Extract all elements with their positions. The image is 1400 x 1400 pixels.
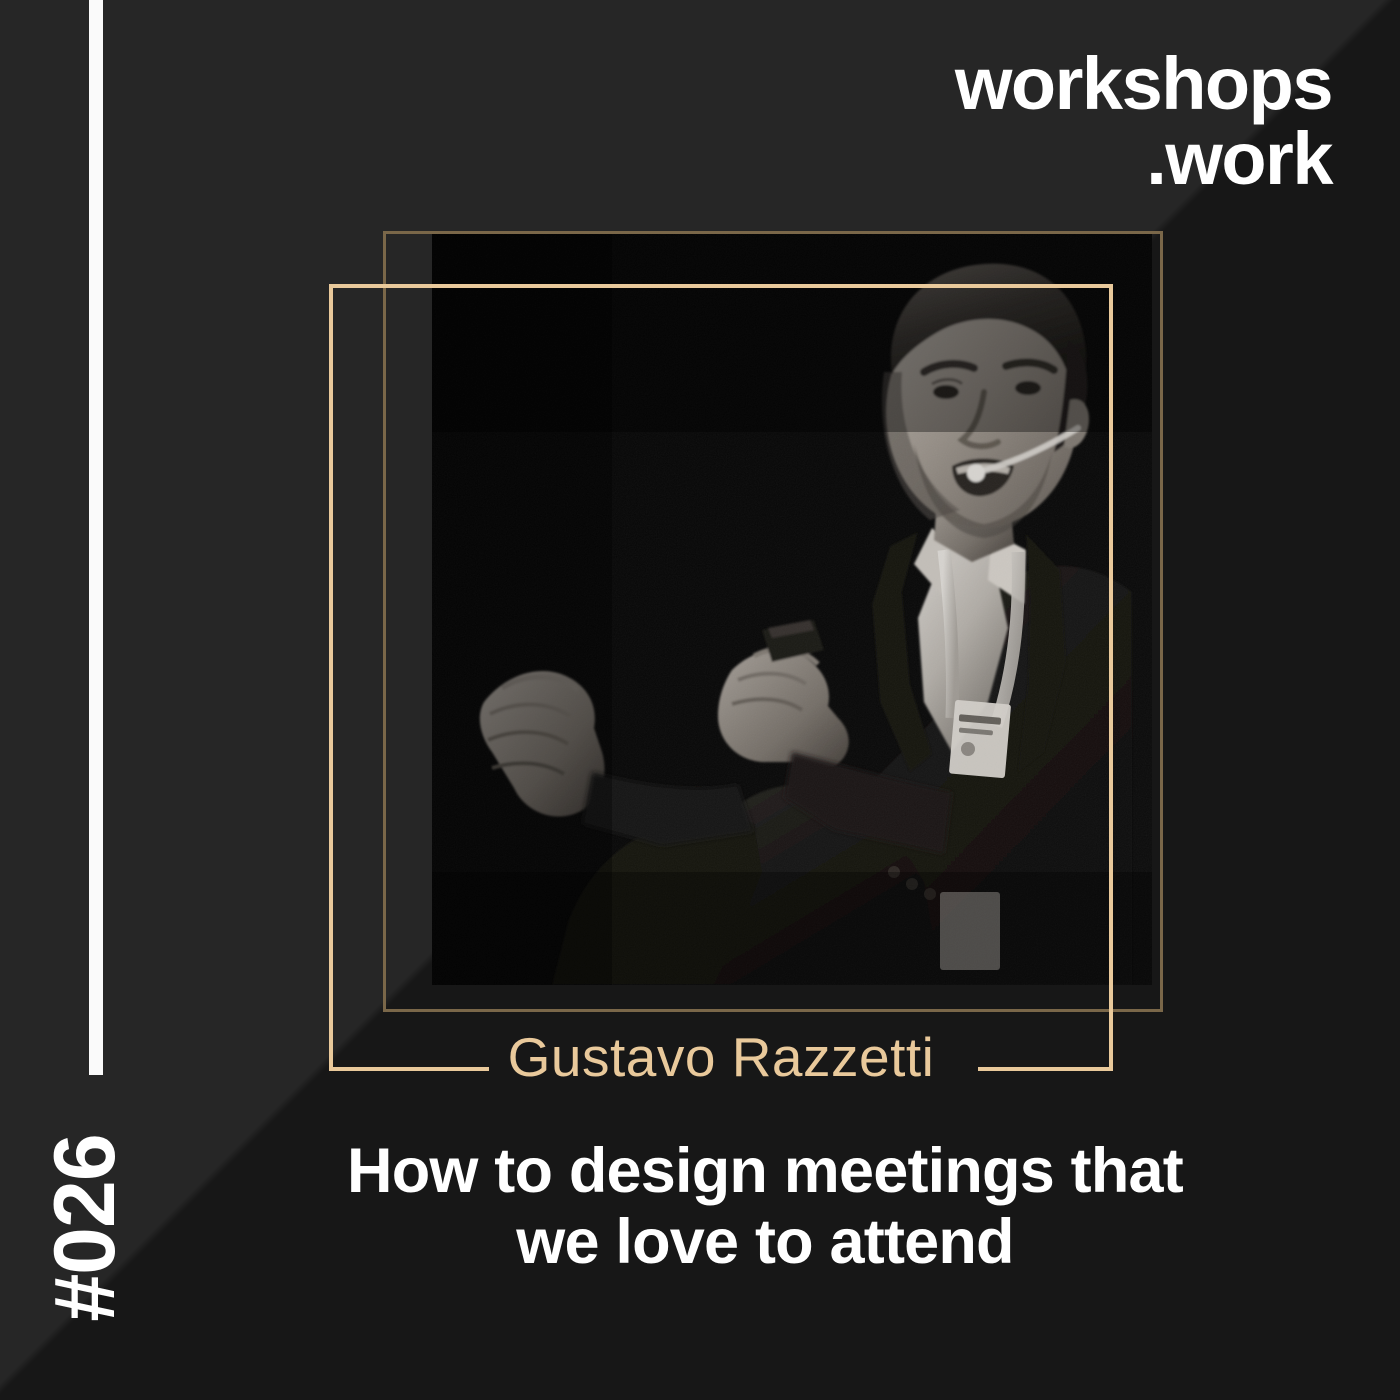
brand-logo-line-2: .work [955, 121, 1332, 196]
brand-logo-line-1: workshops [955, 46, 1332, 121]
episode-title: How to design meetings that we love to a… [200, 1136, 1330, 1278]
brand-logo: workshops .work [955, 46, 1332, 197]
episode-title-line-1: How to design meetings that [200, 1136, 1330, 1207]
vertical-rule-divider [89, 0, 103, 1075]
speaker-name: Gustavo Razzetti [329, 1030, 1113, 1085]
episode-number: #026 [0, 1128, 185, 1328]
speaker-photo [432, 232, 1152, 985]
episode-title-line-2: we love to attend [200, 1207, 1330, 1278]
podcast-cover-art: #026 workshops .work [0, 0, 1400, 1400]
